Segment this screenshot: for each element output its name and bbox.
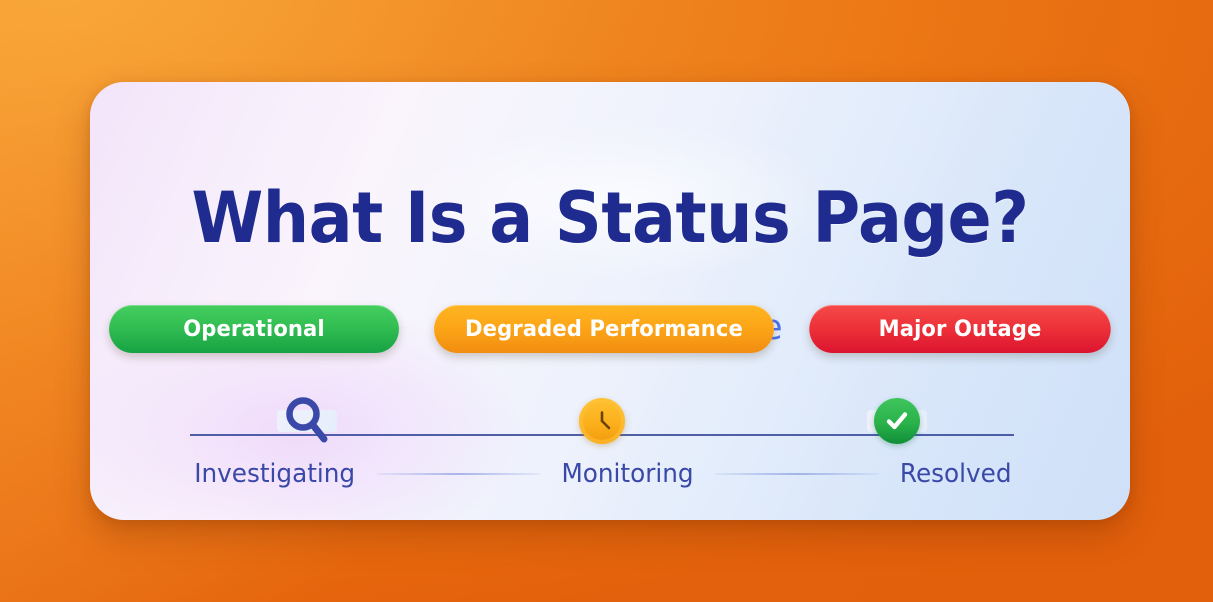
timeline-node-monitoring[interactable] xyxy=(570,389,634,453)
timeline-label-rule-2 xyxy=(715,473,878,475)
timeline-label-row: Investigating Monitoring Resolved xyxy=(190,459,1014,489)
incident-timeline: Investigating Monitoring Resolved xyxy=(190,387,1014,497)
status-page-card: What Is a Status Page? 2026 Practical Gu… xyxy=(90,82,1130,520)
timeline-label-resolved: Resolved xyxy=(899,459,1011,489)
timeline-node-resolved[interactable] xyxy=(865,389,929,453)
timeline-node-row xyxy=(190,387,1014,455)
status-badge-operational[interactable]: Operational xyxy=(109,305,399,353)
status-badge-degraded[interactable]: Degraded Performance xyxy=(434,305,774,353)
timeline-label-monitoring: Monitoring xyxy=(562,459,694,489)
timeline-label-investigating: Investigating xyxy=(194,459,355,489)
poster-canvas: What Is a Status Page? 2026 Practical Gu… xyxy=(0,0,1213,602)
status-badge-outage[interactable]: Major Outage xyxy=(809,305,1110,353)
status-pill-row: Operational Degraded Performance Major O… xyxy=(90,305,1130,353)
page-title: What Is a Status Page? xyxy=(126,183,1093,254)
timeline-label-rule-1 xyxy=(377,473,540,475)
clock-icon xyxy=(579,398,625,444)
check-circle-icon xyxy=(874,398,920,444)
timeline-node-investigating[interactable] xyxy=(275,389,339,453)
magnifier-icon xyxy=(281,394,333,448)
